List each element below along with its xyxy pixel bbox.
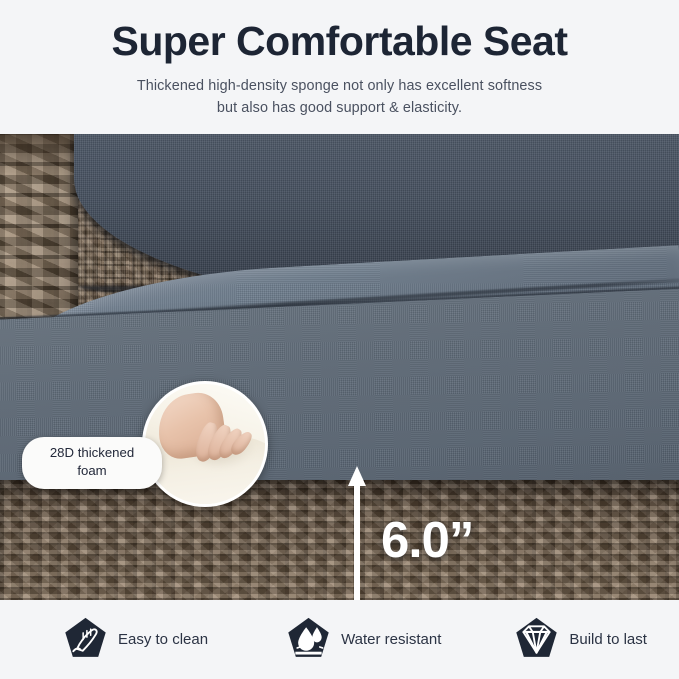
- feature-bar: Easy to clean Water resistant Build to l…: [0, 600, 679, 679]
- feature-item-water-resistant: Water resistant: [285, 616, 441, 663]
- feature-label: Easy to clean: [118, 631, 208, 648]
- measurement-arrow-icon: [345, 466, 369, 600]
- callout-line-2: foam: [32, 462, 152, 480]
- hand-pressing-foam: [152, 389, 255, 468]
- callout-line-1: 28D thickened: [32, 444, 152, 462]
- page-subtitle: Thickened high-density sponge not only h…: [137, 75, 542, 120]
- feature-label: Build to last: [569, 631, 647, 648]
- diamond-icon: [513, 616, 560, 663]
- wicker-base: [0, 480, 679, 600]
- subtitle-line-1: Thickened high-density sponge not only h…: [137, 75, 542, 97]
- foam-inset-photo: [142, 381, 268, 507]
- measurement-value: 6.0”: [381, 514, 473, 565]
- feature-item-easy-to-clean: Easy to clean: [62, 616, 208, 663]
- foam-callout-label: 28D thickened foam: [22, 437, 162, 489]
- header-section: Super Comfortable Seat Thickened high-de…: [0, 0, 679, 134]
- page-title: Super Comfortable Seat: [111, 18, 567, 65]
- water-drop-icon: [285, 616, 332, 663]
- feature-label: Water resistant: [341, 631, 441, 648]
- feature-item-build-to-last: Build to last: [513, 616, 647, 663]
- product-photo: 28D thickened foam 6.0”: [0, 134, 679, 600]
- subtitle-line-2: but also has good support & elasticity.: [137, 97, 542, 119]
- cleaning-hand-icon: [62, 616, 109, 663]
